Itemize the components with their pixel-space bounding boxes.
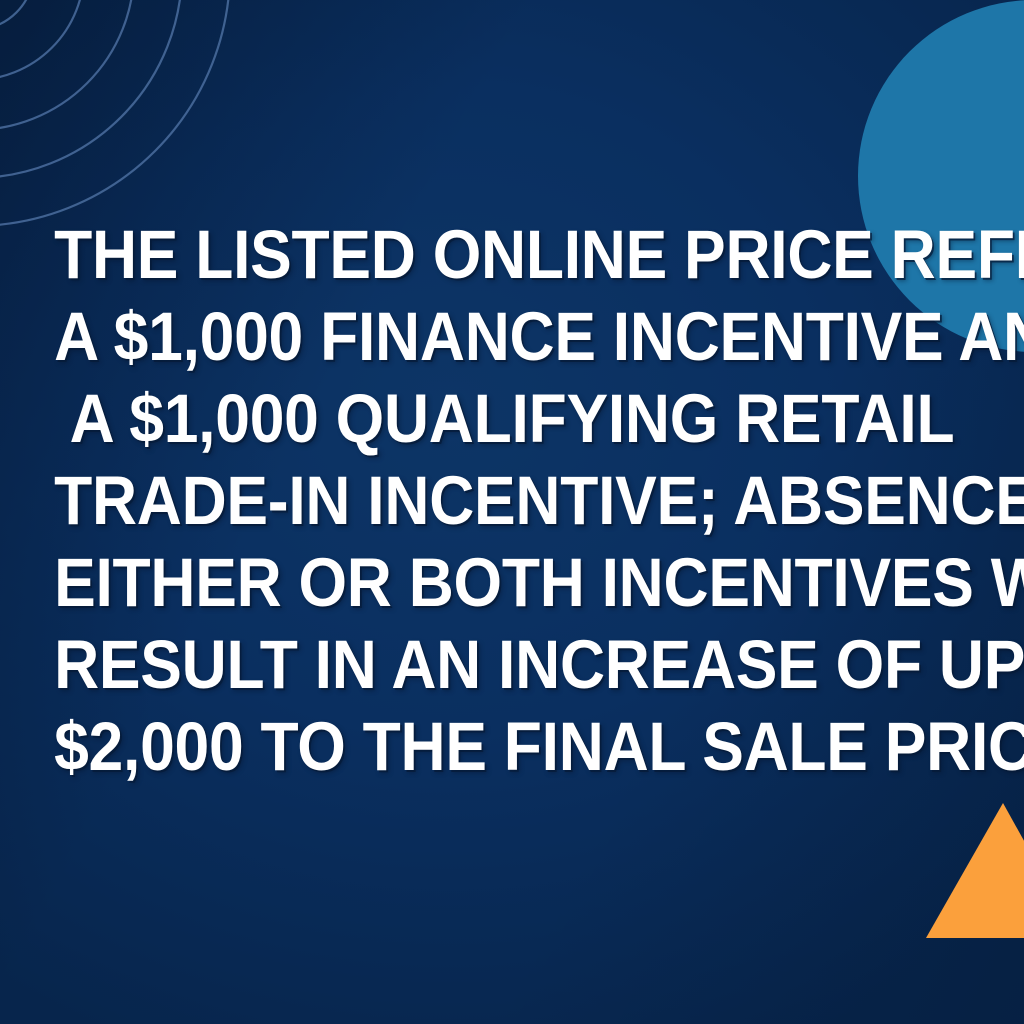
headline-line: $2,000 TO THE FINAL SALE PRICE. [54,706,970,788]
headline-line: TRADE-IN INCENTIVE; ABSENCE OF [54,460,970,542]
promo-disclaimer-graphic: THE LISTED ONLINE PRICE REFLECTS A $1,00… [0,0,1024,1024]
headline-line: THE LISTED ONLINE PRICE REFLECTS [54,214,970,296]
headline-line: EITHER OR BOTH INCENTIVES WILL [54,542,970,624]
headline-line: RESULT IN AN INCREASE OF UP TO [54,624,970,706]
page-title: THE LISTED ONLINE PRICE REFLECTS A $1,00… [0,214,1024,788]
headline-line: A $1,000 FINANCE INCENTIVE AND [54,296,970,378]
headline-line: A $1,000 QUALIFYING RETAIL [54,378,970,460]
